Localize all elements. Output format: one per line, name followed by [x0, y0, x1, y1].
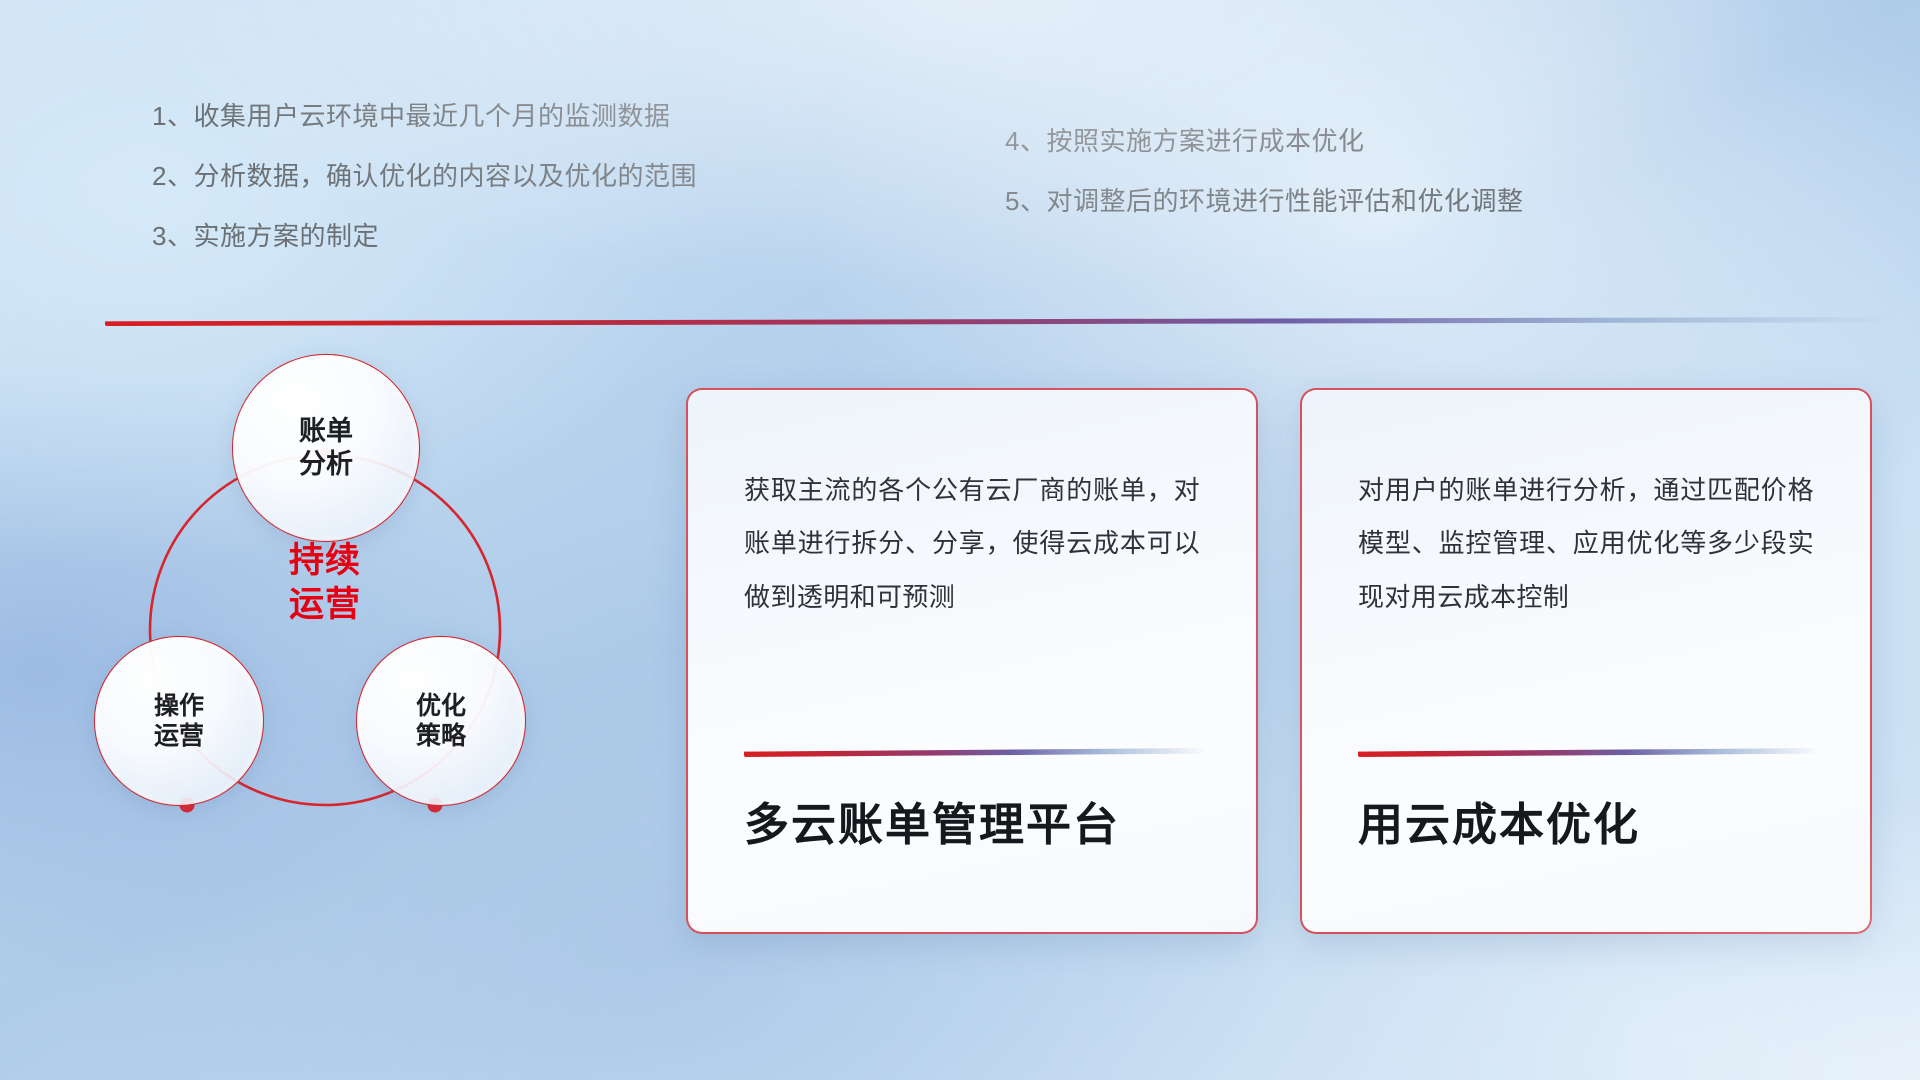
bullet-item: 5、对调整后的环境进行性能评估和优化调整 [1005, 188, 1523, 214]
card-multi-cloud-bill-platform[interactable]: 获取主流的各个公有云厂商的账单，对账单进行拆分、分享，使得云成本可以做到透明和可… [686, 388, 1258, 934]
card-title: 用云成本优化 [1358, 788, 1640, 853]
slide-canvas: 1、收集用户云环境中最近几个月的监测数据 2、分析数据，确认优化的内容以及优化的… [0, 0, 1920, 1080]
card-cloud-cost-optimization[interactable]: 对用户的账单进行分析，通过匹配价格模型、监控管理、应用优化等多少段实现对用云成本… [1300, 388, 1872, 934]
continuous-operation-diagram: 账单 分析 操作 运营 优化 策略 持续 运营 [95, 355, 640, 925]
bubble-operation-ops[interactable]: 操作 运营 [95, 637, 263, 805]
bubble-optimization-policy[interactable]: 优化 策略 [357, 637, 525, 805]
bullet-item: 4、按照实施方案进行成本优化 [1005, 128, 1523, 154]
card-body: 对用户的账单进行分析，通过匹配价格模型、监控管理、应用优化等多少段实现对用云成本… [1358, 464, 1814, 624]
bullet-list-right: 4、按照实施方案进行成本优化 5、对调整后的环境进行性能评估和优化调整 [1005, 128, 1523, 214]
bubble-label: 优化 策略 [416, 691, 466, 752]
bubble-label: 账单 分析 [299, 415, 353, 481]
bullet-item: 1、收集用户云环境中最近几个月的监测数据 [152, 103, 697, 129]
bullet-item: 3、实施方案的制定 [152, 223, 697, 249]
bullet-item: 2、分析数据，确认优化的内容以及优化的范围 [152, 163, 697, 189]
diagram-center-label: 持续 运营 [235, 539, 415, 627]
card-rule [1358, 748, 1820, 757]
bubble-label: 操作 运营 [154, 691, 204, 752]
card-body: 获取主流的各个公有云厂商的账单，对账单进行拆分、分享，使得云成本可以做到透明和可… [744, 464, 1200, 624]
bullet-list-left: 1、收集用户云环境中最近几个月的监测数据 2、分析数据，确认优化的内容以及优化的… [152, 103, 697, 249]
card-title: 多云账单管理平台 [744, 788, 1120, 853]
section-divider [105, 317, 1895, 326]
card-rule [744, 748, 1206, 757]
bubble-bill-analysis[interactable]: 账单 分析 [233, 355, 419, 541]
